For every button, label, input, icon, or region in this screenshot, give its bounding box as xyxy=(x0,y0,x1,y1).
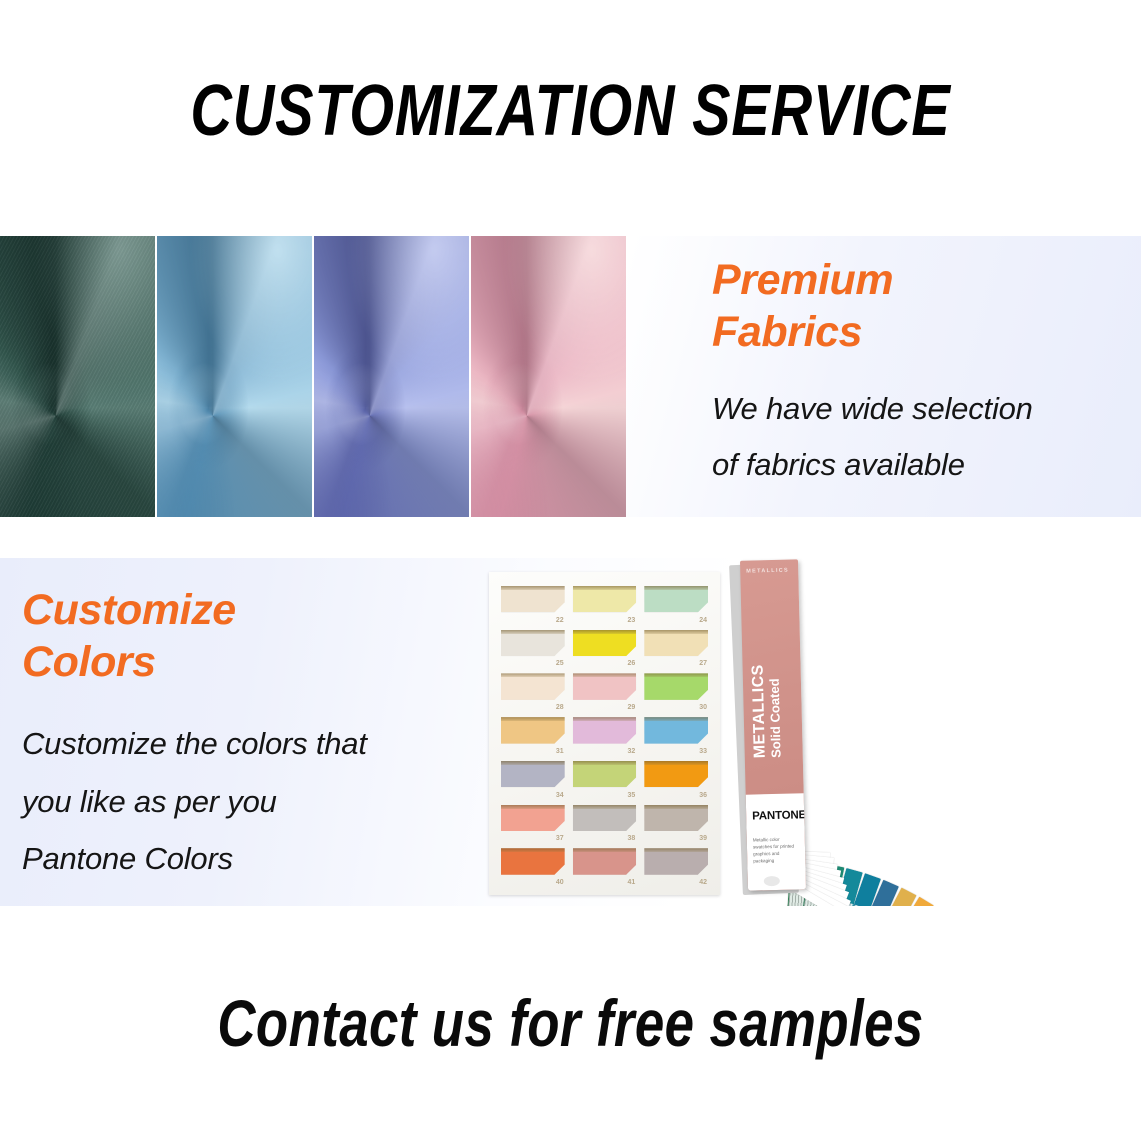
color-chip-39[interactable]: 39 xyxy=(644,805,708,842)
color-chip-number: 29 xyxy=(628,704,636,711)
color-chip-25[interactable]: 25 xyxy=(501,630,565,667)
color-chip-number: 24 xyxy=(699,617,707,624)
color-chip-29[interactable]: 29 xyxy=(573,673,637,710)
premium-fabrics-body-line1: We have wide selection xyxy=(712,381,1132,437)
color-chip-28[interactable]: 28 xyxy=(501,673,565,710)
fabric-texture-sheen xyxy=(0,236,155,517)
color-chip-number: 22 xyxy=(556,617,564,624)
fan-cover-top-label: METALLICS xyxy=(746,568,789,575)
color-chip-number: 23 xyxy=(628,617,636,624)
color-chip-35[interactable]: 35 xyxy=(573,761,637,798)
color-chip-22[interactable]: 22 xyxy=(501,586,565,623)
customize-colors-heading: Customize Colors xyxy=(22,584,492,689)
color-chip-swatch xyxy=(644,630,708,656)
color-chip-swatch xyxy=(501,717,565,743)
page-title: CUSTOMIZATION SERVICE xyxy=(114,70,1027,152)
color-chip-number: 41 xyxy=(628,879,636,886)
pantone-color-chip-card: 2223242526272829303132333435363738394041… xyxy=(489,572,720,895)
color-chip-33[interactable]: 33 xyxy=(644,717,708,754)
color-chip-swatch xyxy=(573,630,637,656)
color-chip-swatch xyxy=(644,717,708,743)
color-chip-swatch xyxy=(501,761,565,787)
color-chip-36[interactable]: 36 xyxy=(644,761,708,798)
color-chip-number: 33 xyxy=(699,748,707,755)
color-chip-number: 39 xyxy=(699,835,707,842)
color-chip-number: 30 xyxy=(699,704,707,711)
color-chip-number: 42 xyxy=(699,879,707,886)
customize-colors-body-line2: you like as per you xyxy=(22,773,492,831)
premium-fabrics-heading-line1: Premium xyxy=(712,254,1132,306)
color-chip-swatch xyxy=(501,673,565,699)
fan-cover-title-block: METALLICS Solid Coated xyxy=(751,664,784,759)
color-chip-swatch xyxy=(644,848,708,874)
color-chip-swatch xyxy=(573,761,637,787)
color-chip-34[interactable]: 34 xyxy=(501,761,565,798)
pantone-wordmark: PANTONE xyxy=(752,809,806,822)
color-chip-41[interactable]: 41 xyxy=(573,848,637,885)
color-chip-swatch xyxy=(573,673,637,699)
premium-fabrics-heading: Premium Fabrics xyxy=(712,254,1132,359)
color-chip-number: 31 xyxy=(556,748,564,755)
premium-fabrics-panel: Premium Fabrics We have wide selection o… xyxy=(0,236,1141,517)
color-chip-23[interactable]: 23 xyxy=(573,586,637,623)
color-chip-31[interactable]: 31 xyxy=(501,717,565,754)
color-chip-27[interactable]: 27 xyxy=(644,630,708,667)
fan-cover-subtitle: Solid Coated xyxy=(767,664,783,758)
premium-fabrics-body: We have wide selection of fabrics availa… xyxy=(712,381,1132,494)
customize-colors-body-line3: Pantone Colors xyxy=(22,830,492,888)
color-chip-number: 34 xyxy=(556,792,564,799)
premium-fabrics-copy: Premium Fabrics We have wide selection o… xyxy=(712,254,1132,494)
color-chip-number: 37 xyxy=(556,835,564,842)
color-chip-32[interactable]: 32 xyxy=(573,717,637,754)
premium-fabrics-heading-line2: Fabrics xyxy=(712,306,1132,358)
premium-fabrics-body-line2: of fabrics available xyxy=(712,437,1132,493)
call-to-action-text: Contact us for free samples xyxy=(114,985,1027,1061)
color-chip-swatch xyxy=(573,805,637,831)
fabric-swatch-light-blue xyxy=(157,236,312,517)
color-chip-swatch xyxy=(501,848,565,874)
fabric-swatch-blush-pink xyxy=(471,236,626,517)
fabric-texture-sheen xyxy=(314,236,469,517)
color-chip-swatch xyxy=(644,673,708,699)
color-chip-30[interactable]: 30 xyxy=(644,673,708,710)
pantone-metallics-fan-deck: METALLICS METALLICS Solid Coated PANTONE… xyxy=(724,558,1141,906)
color-chip-number: 36 xyxy=(699,792,707,799)
color-chip-number: 35 xyxy=(628,792,636,799)
color-chip-number: 28 xyxy=(556,704,564,711)
customize-colors-copy: Customize Colors Customize the colors th… xyxy=(22,584,492,888)
customize-colors-panel: Customize Colors Customize the colors th… xyxy=(0,558,1141,906)
color-chip-swatch xyxy=(501,586,565,612)
fan-deck-cover: METALLICS METALLICS Solid Coated PANTONE… xyxy=(740,559,806,890)
color-chip-38[interactable]: 38 xyxy=(573,805,637,842)
fabric-texture-sheen xyxy=(471,236,626,517)
color-chip-number: 27 xyxy=(699,660,707,667)
color-chip-number: 25 xyxy=(556,660,564,667)
customize-colors-body-line1: Customize the colors that xyxy=(22,715,492,773)
color-chip-swatch xyxy=(573,717,637,743)
fabric-texture-sheen xyxy=(157,236,312,517)
customize-colors-heading-line1: Customize xyxy=(22,584,492,636)
color-chip-40[interactable]: 40 xyxy=(501,848,565,885)
color-chip-swatch xyxy=(644,761,708,787)
color-chip-swatch xyxy=(644,586,708,612)
color-chip-swatch xyxy=(573,586,637,612)
color-chip-number: 40 xyxy=(556,879,564,886)
color-chip-26[interactable]: 26 xyxy=(573,630,637,667)
color-chip-number: 38 xyxy=(628,835,636,842)
fabric-swatch-periwinkle xyxy=(314,236,469,517)
color-chip-24[interactable]: 24 xyxy=(644,586,708,623)
customize-colors-body: Customize the colors that you like as pe… xyxy=(22,715,492,888)
color-chip-number: 26 xyxy=(628,660,636,667)
fan-cover-description: Metallic color swatches for printed grap… xyxy=(753,835,800,865)
fabric-swatch-dark-teal xyxy=(0,236,155,517)
color-chip-37[interactable]: 37 xyxy=(501,805,565,842)
customize-colors-heading-line2: Colors xyxy=(22,636,492,688)
color-chip-swatch xyxy=(644,805,708,831)
color-chip-42[interactable]: 42 xyxy=(644,848,708,885)
color-chip-number: 32 xyxy=(628,748,636,755)
color-chip-swatch xyxy=(501,630,565,656)
color-chip-swatch xyxy=(501,805,565,831)
color-chip-swatch xyxy=(573,848,637,874)
pantone-brand-logo: PANTONE® xyxy=(752,809,806,822)
fabric-swatch-strip xyxy=(0,236,626,517)
